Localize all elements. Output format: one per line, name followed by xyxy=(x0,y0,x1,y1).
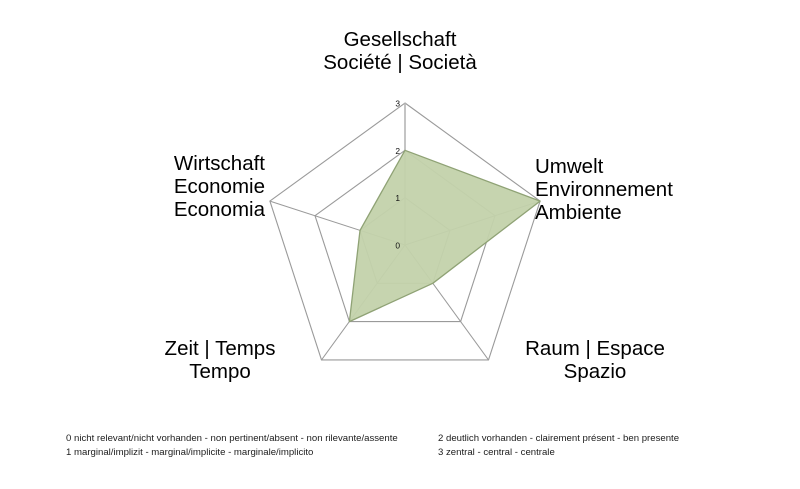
axis-label-wirtschaft-line2: Economie xyxy=(55,175,265,198)
axis-label-zeit-line2: Tempo xyxy=(105,360,335,383)
axis-label-raum-line2: Spazio xyxy=(470,360,720,383)
axis-label-zeit-line1: Zeit | Temps xyxy=(105,337,335,360)
legend-column-left: 0 nicht relevant/nicht vorhanden - non p… xyxy=(66,432,438,459)
tick-label-3: 3 xyxy=(395,99,400,109)
legend-item-0: 0 nicht relevant/nicht vorhanden - non p… xyxy=(66,432,438,446)
axis-label-gesellschaft: Gesellschaft Société | Società xyxy=(0,28,800,74)
tick-label-2: 2 xyxy=(395,146,400,156)
legend-item-2: 2 deutlich vorhanden - clairement présen… xyxy=(438,432,778,446)
axis-label-zeit: Zeit | Temps Tempo xyxy=(105,337,335,383)
legend-item-3: 3 zentral - central - centrale xyxy=(438,446,778,460)
axis-label-umwelt-line2: Environnement xyxy=(535,178,765,201)
tick-label-1: 1 xyxy=(395,193,400,203)
axis-label-umwelt-line3: Ambiente xyxy=(535,201,765,224)
data-series-polygon xyxy=(349,150,540,321)
axis-label-wirtschaft: Wirtschaft Economie Economia xyxy=(55,152,265,221)
axis-label-umwelt: Umwelt Environnement Ambiente xyxy=(535,155,765,224)
radar-chart: 3 2 1 0 Gesellschaft Société | Società U… xyxy=(0,0,800,489)
axis-label-gesellschaft-line1: Gesellschaft xyxy=(0,28,800,51)
axis-label-raum: Raum | Espace Spazio xyxy=(470,337,720,383)
legend-item-1: 1 marginal/implizit - marginal/implicite… xyxy=(66,446,438,460)
axis-label-wirtschaft-line3: Economia xyxy=(55,198,265,221)
axis-label-raum-line1: Raum | Espace xyxy=(470,337,720,360)
chart-legend: 0 nicht relevant/nicht vorhanden - non p… xyxy=(66,432,786,459)
legend-column-right: 2 deutlich vorhanden - clairement présen… xyxy=(438,432,778,459)
axis-label-gesellschaft-line2: Société | Società xyxy=(0,51,800,74)
axis-label-wirtschaft-line1: Wirtschaft xyxy=(55,152,265,175)
axis-label-umwelt-line1: Umwelt xyxy=(535,155,765,178)
tick-label-0: 0 xyxy=(395,241,400,251)
